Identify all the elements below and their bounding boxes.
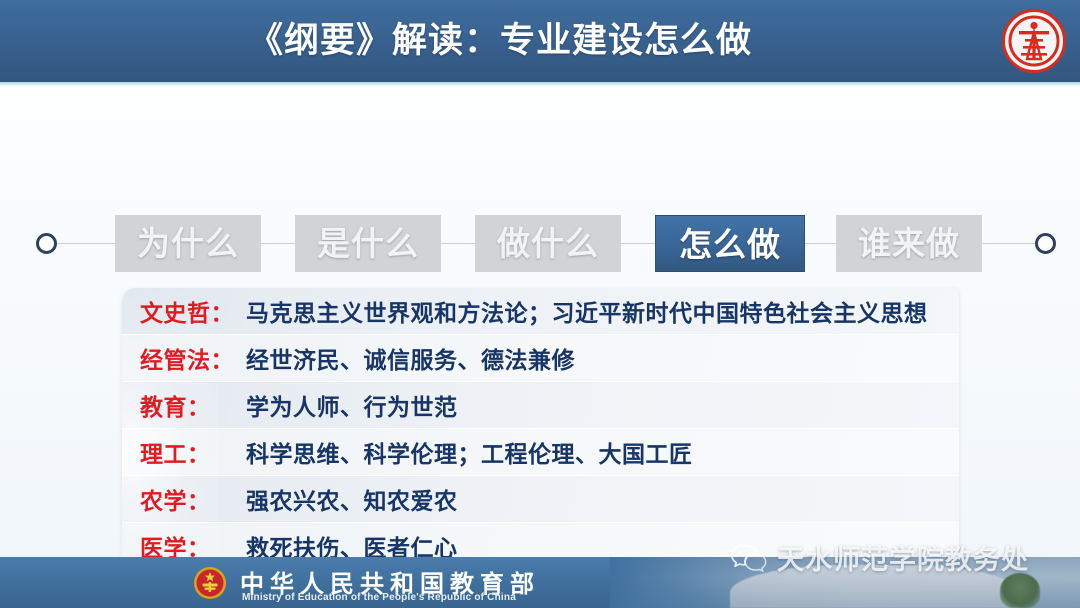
campus-photo (610, 557, 1080, 608)
slide-body: 为什么 是什么 做什么 怎么做 谁来做 文史哲： 马克思主义世界观和方法论；习近… (0, 86, 1080, 557)
row-value: 科学思维、科学伦理；工程伦理、大国工匠 (246, 435, 959, 469)
campus-building (730, 565, 1020, 608)
table-row: 文史哲： 马克思主义世界观和方法论；习近平新时代中国特色社会主义思想 (122, 288, 959, 335)
tab-why[interactable]: 为什么 (115, 215, 261, 272)
row-value: 马克思主义世界观和方法论；习近平新时代中国特色社会主义思想 (246, 294, 959, 328)
tab-what-is[interactable]: 是什么 (295, 215, 441, 272)
circle-marker-icon-start (36, 233, 57, 254)
row-value: 强农兴农、知农爱农 (246, 482, 959, 516)
tab-how-to-do[interactable]: 怎么做 (655, 215, 805, 272)
row-value: 经世济民、诚信服务、德法兼修 (246, 341, 959, 375)
campus-tree (1000, 573, 1040, 608)
row-label: 经管法： (122, 341, 246, 375)
tab-what-to-do[interactable]: 做什么 (475, 215, 621, 272)
footer-bar: 中华人民共和国教育部 Ministry of Education of the … (0, 557, 1080, 608)
table-row: 农学： 强农兴农、知农爱农 (122, 476, 959, 523)
page-title: 《纲要》解读：专业建设怎么做 (0, 12, 1000, 70)
national-emblem-icon (192, 565, 228, 601)
slide-canvas: 《纲要》解读：专业建设怎么做 为什么 是什么 做什么 怎么做 谁来做 文史哲： (0, 0, 1080, 608)
tower-circle-logo-icon (1002, 9, 1066, 73)
table-row: 经管法： 经世济民、诚信服务、德法兼修 (122, 335, 959, 382)
table-row: 教育： 学为人师、行为世范 (122, 382, 959, 429)
circle-marker-icon-end (1035, 233, 1056, 254)
row-label: 理工： (122, 435, 246, 469)
row-label: 农学： (122, 482, 246, 516)
row-label: 文史哲： (122, 294, 246, 328)
table-row: 理工： 科学思维、科学伦理；工程伦理、大国工匠 (122, 429, 959, 476)
row-value: 学为人师、行为世范 (246, 388, 959, 422)
row-label: 教育： (122, 388, 246, 422)
ministry-name-en: Ministry of Education of the People's Re… (242, 592, 516, 603)
tab-who-does[interactable]: 谁来做 (836, 215, 982, 272)
